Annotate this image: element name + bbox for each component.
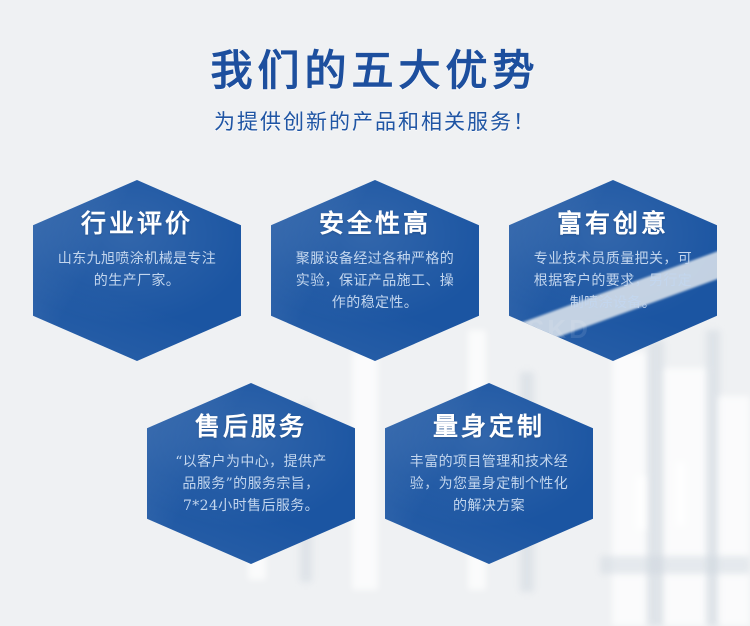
advantage-body: “以客户为中心，提供产品服务”的服务宗旨，7*24小时售后服务。 — [169, 451, 333, 517]
advantage-hexagon-custom-tailored[interactable]: 量身定制 丰富的项目管理和技术经验，为您量身定制个性化的解决方案 — [385, 383, 593, 564]
advantage-hexagon-after-sales-service[interactable]: 售后服务 “以客户为中心，提供产品服务”的服务宗旨，7*24小时售后服务。 — [147, 383, 355, 564]
page-title: 我们的五大优势 — [0, 44, 750, 98]
advantage-body: 专业技术员质量把关，可根据客户的要求，另行定制喷涂设备。 — [531, 248, 695, 314]
header-block: 我们的五大优势 为提供创新的产品和相关服务！ — [0, 44, 750, 136]
advantage-body: 山东九旭喷涂机械是专注的生产厂家。 — [55, 248, 219, 292]
advantage-hexagon-high-safety[interactable]: 安全性高 聚脲设备经过各种严格的实验，保证产品施工、操作的稳定性。 — [271, 180, 479, 361]
advantage-hexagon-industry-rating[interactable]: 行业评价 山东九旭喷涂机械是专注的生产厂家。 — [33, 180, 241, 361]
page-subtitle: 为提供创新的产品和相关服务！ — [0, 108, 750, 136]
advantage-title: 售后服务 — [169, 411, 333, 443]
advantages-banner: 我们的五大优势 为提供创新的产品和相关服务！ 行业评价 山东九旭喷涂机械是专注的… — [0, 0, 750, 626]
advantage-hexagon-creative[interactable]: SKD 富有创意 专业技术员质量把关，可根据客户的要求，另行定制喷涂设备。 — [509, 180, 717, 361]
advantage-title: 富有创意 — [531, 208, 695, 240]
advantage-title: 安全性高 — [293, 208, 457, 240]
advantage-title: 行业评价 — [55, 208, 219, 240]
advantage-body: 丰富的项目管理和技术经验，为您量身定制个性化的解决方案 — [407, 451, 571, 517]
advantage-body: 聚脲设备经过各种严格的实验，保证产品施工、操作的稳定性。 — [293, 248, 457, 314]
advantage-title: 量身定制 — [407, 411, 571, 443]
